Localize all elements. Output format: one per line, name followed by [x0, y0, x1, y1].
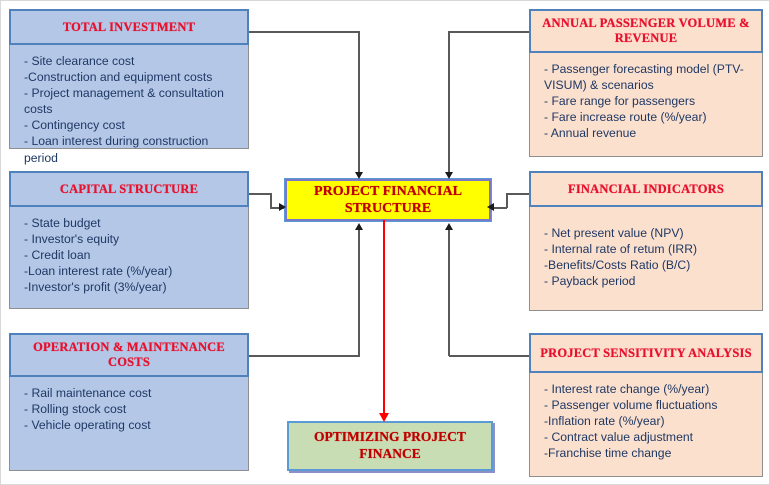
list-item: - Fare increase route (%/year)	[544, 109, 752, 125]
list-item: - Interest rate change (%/year)	[544, 381, 752, 397]
arrow-operation-maintenance-to-center	[355, 223, 363, 230]
connector-project-sensitivity-vertical	[448, 229, 450, 356]
outcome-title-line2: FINANCE	[314, 446, 466, 463]
node-annual-passenger-body: - Passenger forecasting model (PTV-VISUM…	[529, 53, 763, 157]
arrow-annual-passenger-to-center	[445, 172, 453, 179]
center-title-line2: STRUCTURE	[314, 200, 462, 218]
node-financial-indicators-title: FINANCIAL INDICATORS	[529, 171, 763, 207]
connector-project-sensitivity-horizontal	[449, 355, 529, 357]
connector-total-investment-horizontal	[249, 31, 360, 33]
node-annual-passenger-volume-revenue[interactable]: ANNUAL PASSENGER VOLUME & REVENUE - Pass…	[529, 9, 763, 157]
node-optimizing-project-finance[interactable]: OPTIMIZING PROJECT FINANCE	[287, 421, 493, 471]
node-total-investment[interactable]: TOTAL INVESTMENT - Site clearance cost -…	[9, 9, 249, 149]
list-item: - Payback period	[544, 273, 752, 289]
node-project-sensitivity-analysis[interactable]: PROJECT SENSITIVITY ANALYSIS - Interest …	[529, 333, 763, 477]
connector-capital-structure-h1	[249, 193, 271, 195]
node-operation-maintenance[interactable]: OPERATION & MAINTENANCE COSTS - Rail mai…	[9, 333, 249, 471]
connector-center-to-outcome-red	[383, 220, 385, 415]
node-financial-indicators-body: - Net present value (NPV) - Internal rat…	[529, 207, 763, 311]
node-operation-maintenance-title: OPERATION & MAINTENANCE COSTS	[9, 333, 249, 377]
list-item: - Fare range for passengers	[544, 93, 752, 109]
arrow-capital-structure-to-center	[279, 203, 286, 211]
node-annual-passenger-title: ANNUAL PASSENGER VOLUME & REVENUE	[529, 9, 763, 53]
connector-annual-passenger-vertical	[448, 31, 450, 173]
connector-total-investment-vertical	[358, 31, 360, 173]
arrow-center-to-outcome	[379, 413, 389, 422]
node-project-sensitivity-title: PROJECT SENSITIVITY ANALYSIS	[529, 333, 763, 373]
center-title: PROJECT FINANCIAL STRUCTURE	[314, 183, 462, 218]
list-item: - Loan interest during construction peri…	[24, 133, 238, 165]
list-item: - Project management & consultation cost…	[24, 85, 238, 117]
arrow-project-sensitivity-to-center	[445, 223, 453, 230]
list-item: -Inflation rate (%/year)	[544, 413, 752, 429]
node-project-financial-structure[interactable]: PROJECT FINANCIAL STRUCTURE	[285, 179, 491, 221]
connector-annual-passenger-horizontal	[449, 31, 529, 33]
node-capital-structure-body: - State budget - Investor's equity - Cre…	[9, 207, 249, 309]
center-title-line1: PROJECT FINANCIAL	[314, 183, 462, 201]
outcome-title-line1: OPTIMIZING PROJECT	[314, 429, 466, 446]
list-item: -Loan interest rate (%/year)	[24, 263, 238, 279]
node-project-sensitivity-body: - Interest rate change (%/year) - Passen…	[529, 373, 763, 477]
list-item: - Credit loan	[24, 247, 238, 263]
list-item: - Contingency cost	[24, 117, 238, 133]
connector-financial-indicators-v	[506, 193, 508, 208]
list-item: - Vehicle operating cost	[24, 417, 238, 433]
list-item: - Site clearance cost	[24, 53, 238, 69]
node-capital-structure-title: CAPITAL STRUCTURE	[9, 171, 249, 207]
list-item: - Annual revenue	[544, 125, 752, 141]
arrow-financial-indicators-to-center	[487, 203, 494, 211]
node-financial-indicators[interactable]: FINANCIAL INDICATORS - Net present value…	[529, 171, 763, 311]
list-item: -Investor's profit (3%/year)	[24, 279, 238, 295]
list-item: - Net present value (NPV)	[544, 225, 752, 241]
connector-operation-maintenance-horizontal	[249, 355, 360, 357]
list-item: - Contract value adjustment	[544, 429, 752, 445]
list-item: - State budget	[24, 215, 238, 231]
connector-operation-maintenance-vertical	[358, 229, 360, 356]
list-item: - Investor's equity	[24, 231, 238, 247]
list-item: - Rail maintenance cost	[24, 385, 238, 401]
node-capital-structure[interactable]: CAPITAL STRUCTURE - State budget - Inves…	[9, 171, 249, 309]
arrow-total-investment-to-center	[355, 172, 363, 179]
connector-financial-indicators-h1	[507, 193, 529, 195]
list-item: -Construction and equipment costs	[24, 69, 238, 85]
node-total-investment-title: TOTAL INVESTMENT	[9, 9, 249, 45]
list-item: - Passenger volume fluctuations	[544, 397, 752, 413]
connector-financial-indicators-h2	[493, 207, 507, 209]
list-item: -Franchise time change	[544, 445, 752, 461]
list-item: -Benefits/Costs Ratio (B/C)	[544, 257, 752, 273]
connector-capital-structure-v	[270, 193, 272, 208]
list-item: - Rolling stock cost	[24, 401, 238, 417]
outcome-title: OPTIMIZING PROJECT FINANCE	[314, 429, 466, 463]
node-operation-maintenance-body: - Rail maintenance cost - Rolling stock …	[9, 377, 249, 471]
list-item: - Passenger forecasting model (PTV-VISUM…	[544, 61, 752, 93]
diagram-canvas: TOTAL INVESTMENT - Site clearance cost -…	[0, 0, 770, 485]
list-item: - Internal rate of retum (IRR)	[544, 241, 752, 257]
node-total-investment-body: - Site clearance cost -Construction and …	[9, 45, 249, 149]
